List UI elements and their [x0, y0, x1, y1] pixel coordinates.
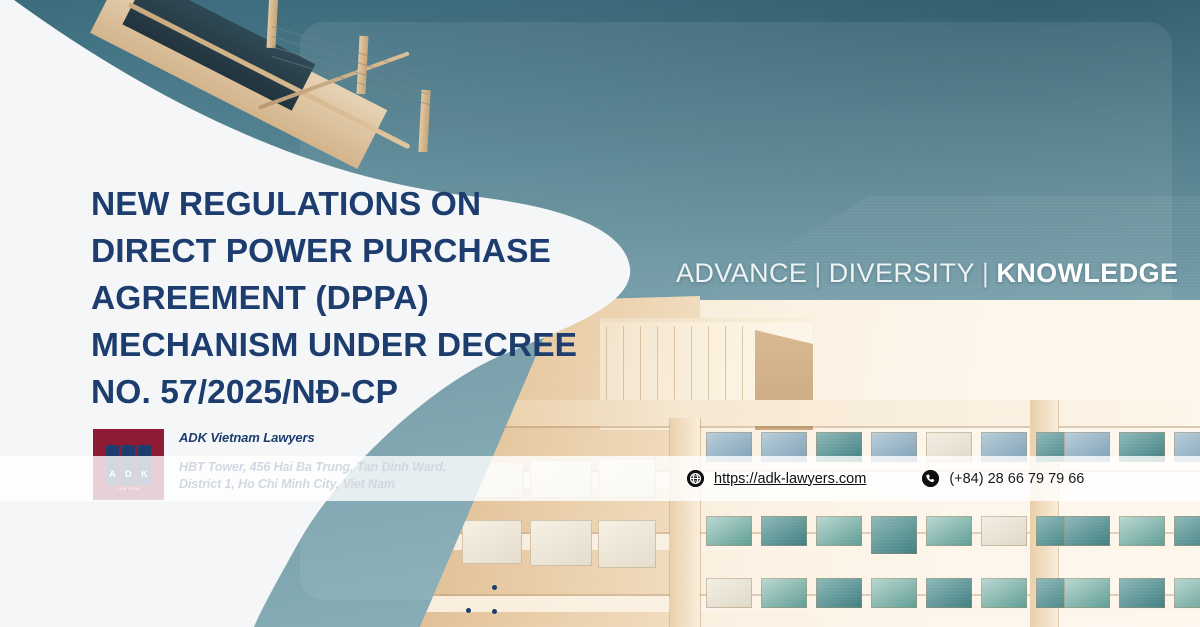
phone-icon — [922, 470, 939, 487]
contact-website[interactable]: https://adk-lawyers.com — [687, 470, 866, 487]
phone-number[interactable]: (+84) 28 66 79 79 66 — [949, 471, 1084, 487]
tagline-word-diversity: DIVERSITY — [829, 258, 975, 288]
railing-post — [266, 0, 278, 48]
tagline-separator: | — [982, 258, 989, 288]
tagline-word-knowledge: KNOWLEDGE — [996, 258, 1178, 288]
firm-name: ADK Vietnam Lawyers — [179, 430, 446, 445]
railing-post — [418, 90, 430, 152]
tagline-separator: | — [814, 258, 821, 288]
decorative-dot — [492, 585, 497, 590]
decorative-dot — [466, 608, 471, 613]
website-link[interactable]: https://adk-lawyers.com — [714, 471, 866, 487]
globe-icon — [687, 470, 704, 487]
contact-bar: https://adk-lawyers.com (+84) 28 66 79 7… — [0, 456, 1200, 501]
decorative-dot — [492, 609, 497, 614]
tagline: ADVANCE|DIVERSITY|KNOWLEDGE — [676, 258, 1178, 289]
banner: NEW REGULATIONS ON DIRECT POWER PURCHASE… — [0, 0, 1200, 627]
tagline-word-advance: ADVANCE — [676, 258, 807, 288]
contact-phone[interactable]: (+84) 28 66 79 79 66 — [922, 470, 1084, 487]
page-title: NEW REGULATIONS ON DIRECT POWER PURCHASE… — [91, 182, 591, 416]
